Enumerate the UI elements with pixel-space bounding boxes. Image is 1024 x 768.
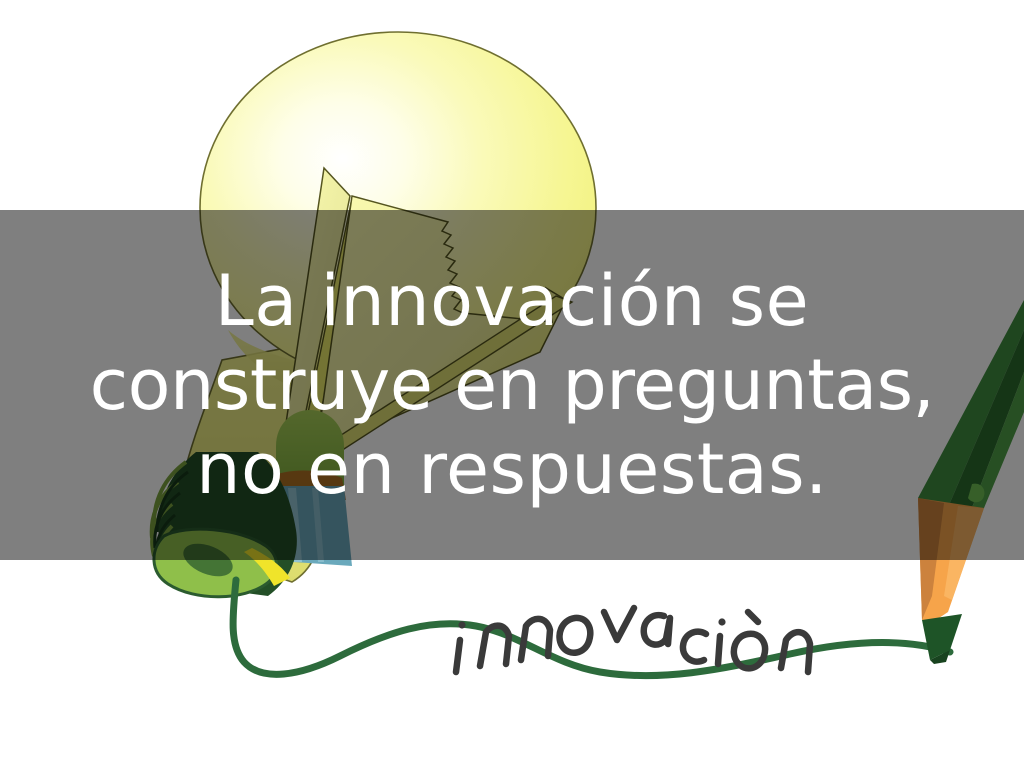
slide-canvas: La innovación se construye en preguntas,…	[0, 0, 1024, 768]
caption-line-1: La innovación se	[215, 266, 809, 336]
hw-accent-acute	[748, 612, 758, 622]
pencil-lead-tip	[922, 614, 962, 660]
hw-letter-o-1	[560, 618, 591, 653]
caption-line-3: no en respuestas.	[196, 434, 828, 504]
hw-letter-i-1-stem	[456, 640, 460, 672]
caption-line-2: construye en preguntas,	[90, 350, 935, 420]
caption-overlay-band: La innovación se construye en preguntas,…	[0, 210, 1024, 560]
hw-letter-i-1-dot	[458, 621, 465, 628]
hw-letter-a	[644, 615, 670, 644]
hw-letter-c	[683, 632, 706, 662]
hw-letter-v	[604, 608, 634, 640]
handwritten-word-group	[456, 608, 810, 672]
hw-letter-i-2-stem	[718, 636, 720, 664]
hw-letter-n-2	[521, 619, 550, 660]
hw-letter-i-2-dot	[718, 618, 725, 625]
